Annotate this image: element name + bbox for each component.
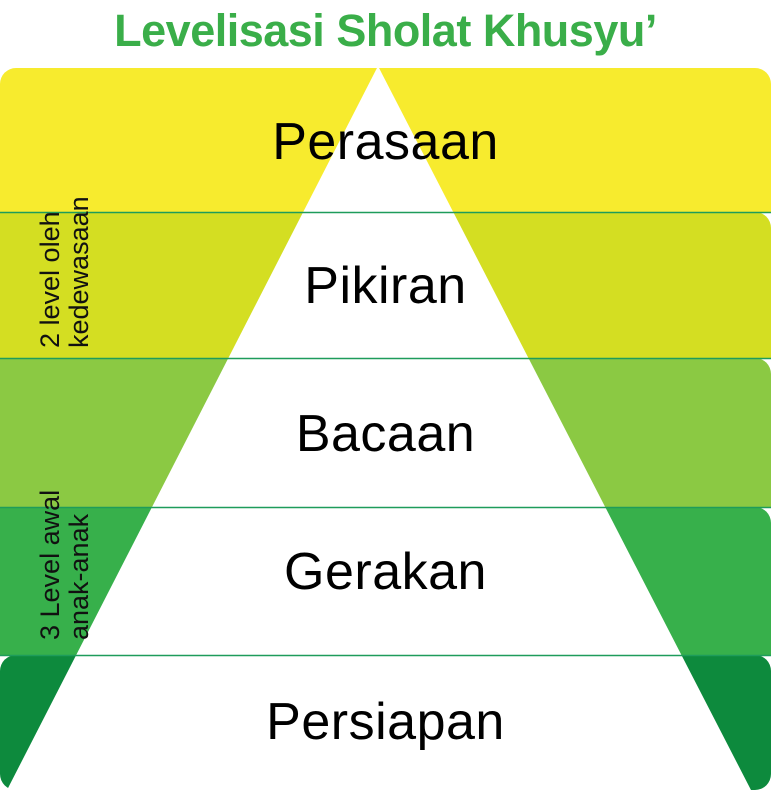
side-note-upper-line1: 2 level oleh xyxy=(36,196,65,348)
level-label-3: Bacaan xyxy=(0,404,771,464)
side-note-upper: 2 level oleh kedewasaan xyxy=(36,196,94,348)
level-label-4: Gerakan xyxy=(0,542,771,602)
side-note-lower-line2: anak-anak xyxy=(65,490,94,640)
side-note-lower: 3 Level awal anak-anak xyxy=(36,490,94,640)
infographic-root: Levelisasi Sholat Khusyu’ Perasaan Pikir… xyxy=(0,0,771,800)
level-label-5: Persiapan xyxy=(0,692,771,752)
level-label-1: Perasaan xyxy=(0,112,771,172)
side-note-upper-line2: kedewasaan xyxy=(65,196,94,348)
side-note-lower-line1: 3 Level awal xyxy=(36,490,65,640)
level-label-2: Pikiran xyxy=(0,256,771,316)
